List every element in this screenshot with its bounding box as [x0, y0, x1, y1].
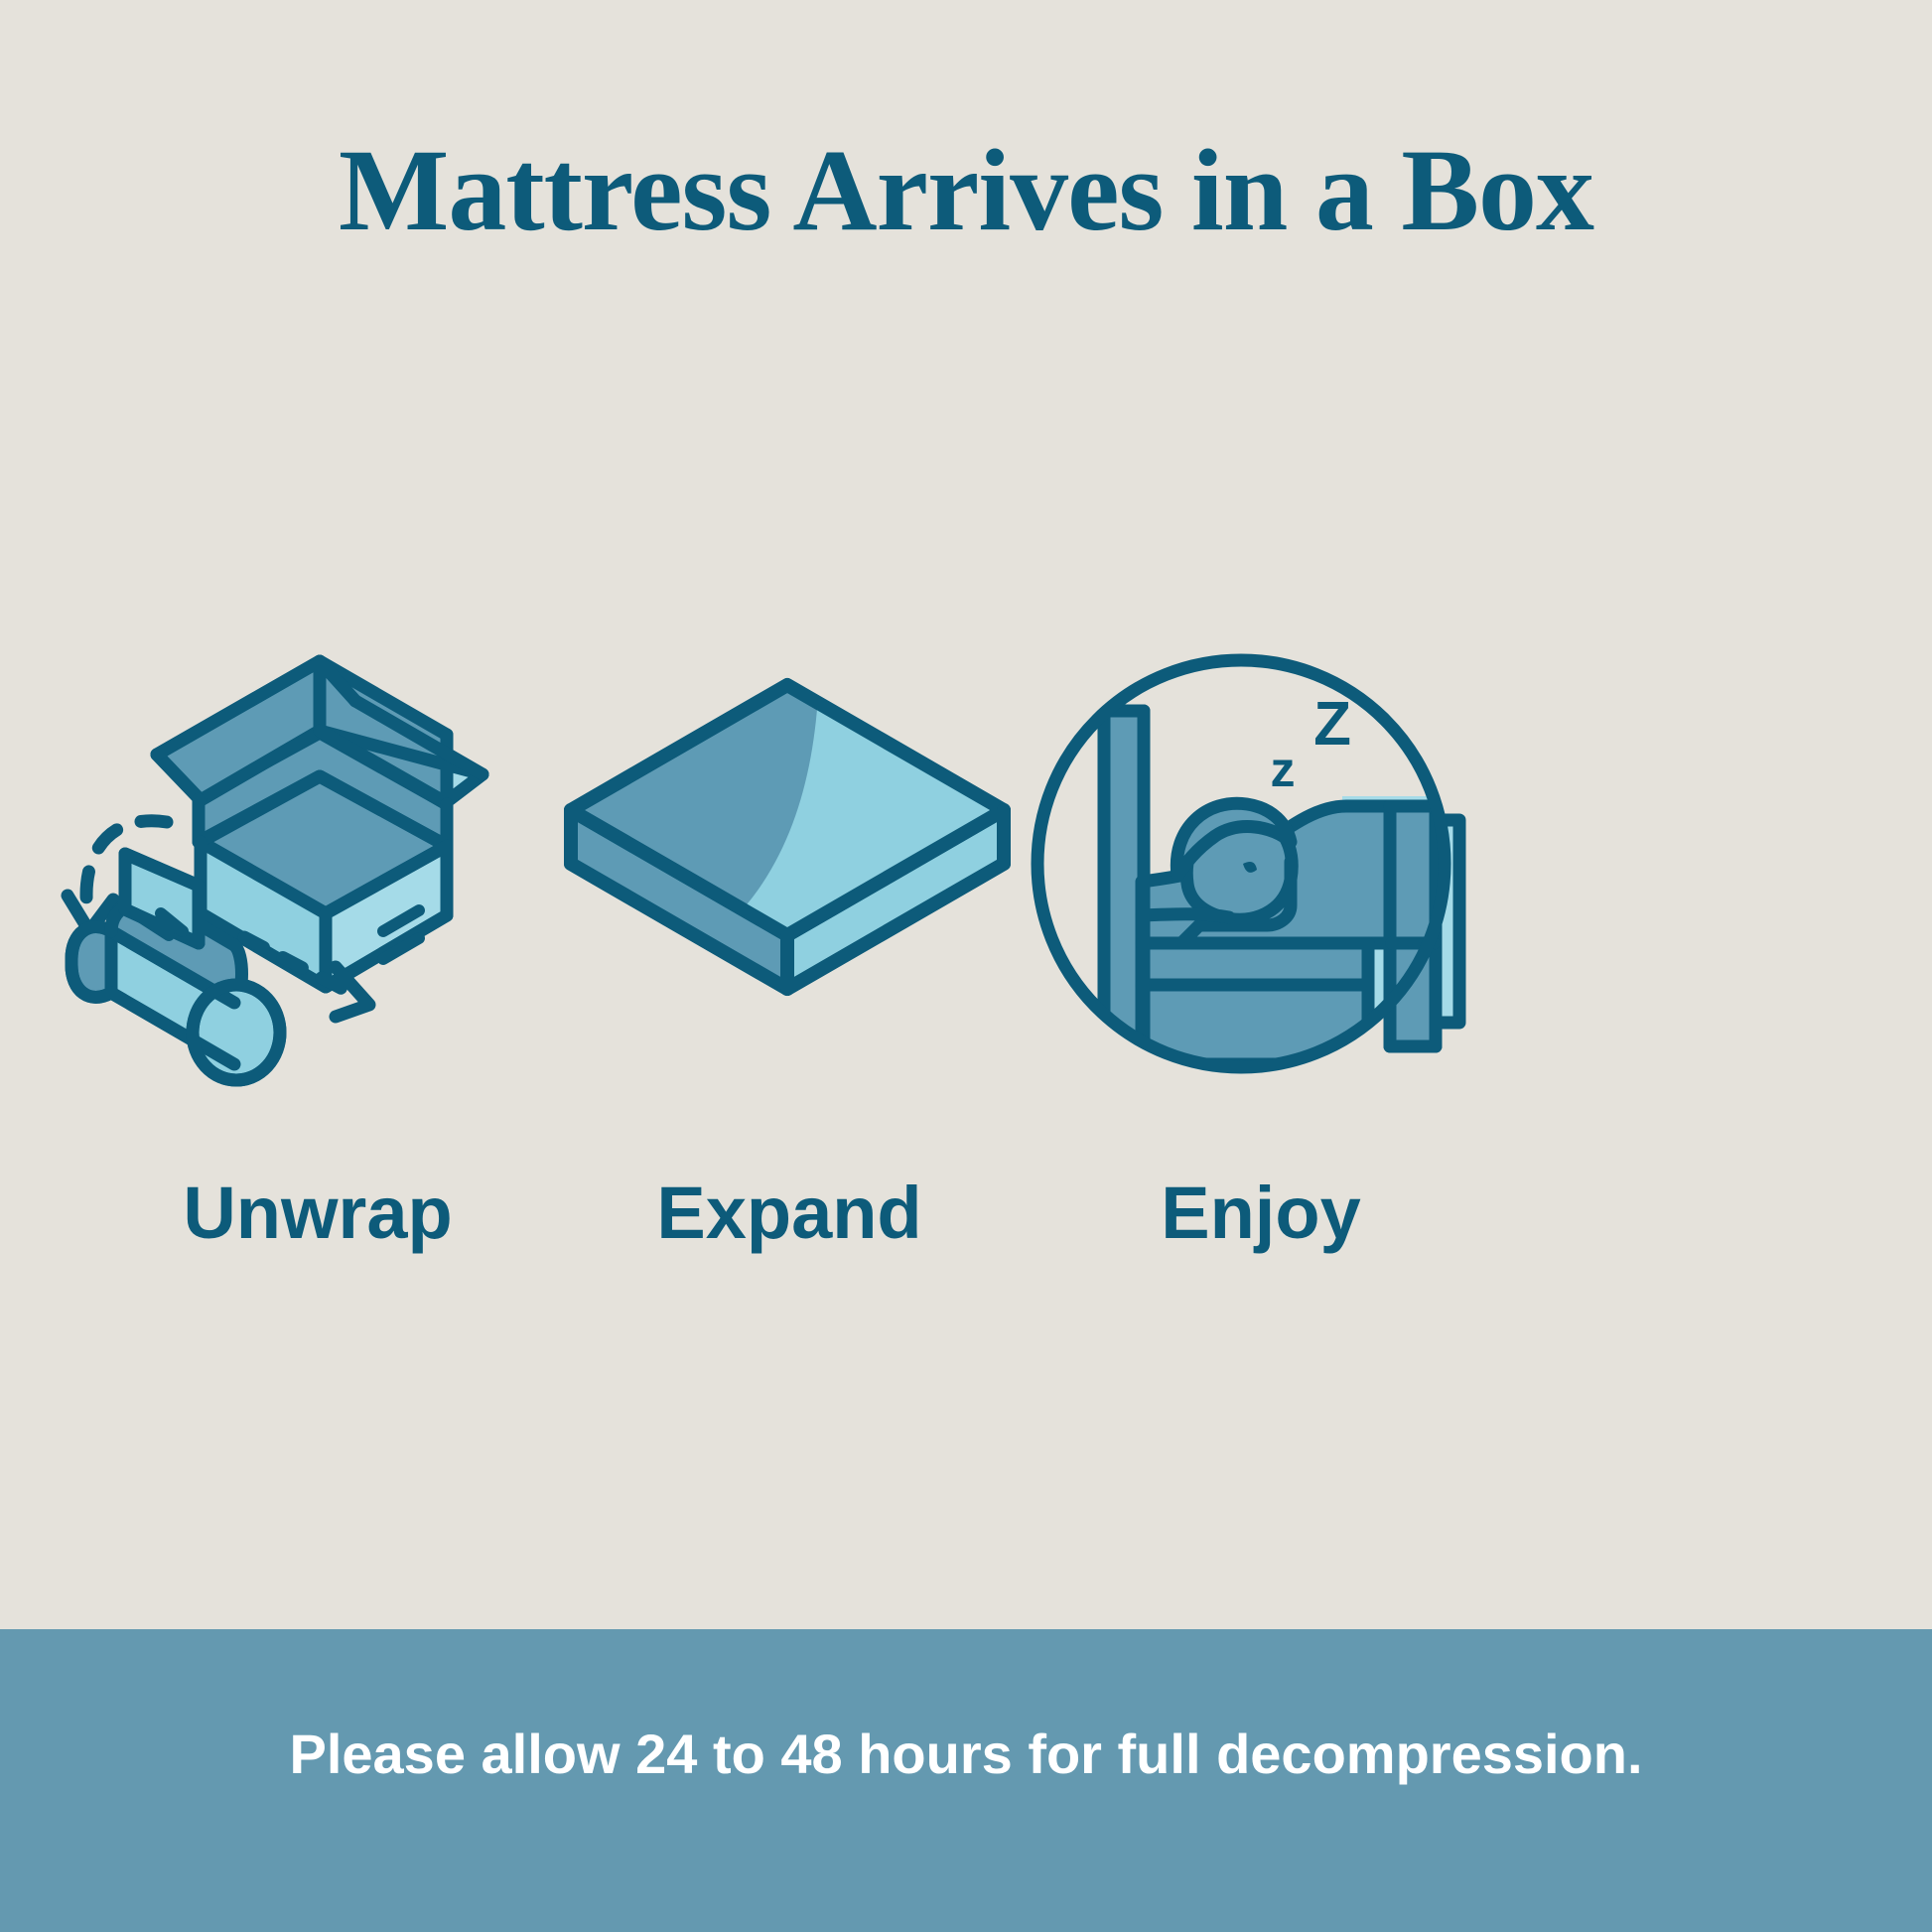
- step-1-icon-unwrap: [50, 616, 586, 1132]
- infographic-canvas: Mattress Arrives in a Box: [0, 0, 1932, 1932]
- steps-icon-row: z Z: [0, 616, 1932, 1132]
- steps-label-row: Unwrap Expand Enjoy: [0, 1176, 1932, 1286]
- step-3-label: Enjoy: [993, 1176, 1529, 1250]
- sleep-mark-z-small: z: [1271, 742, 1296, 797]
- step-1-label: Unwrap: [50, 1176, 586, 1250]
- step-3-icon-enjoy: z Z: [993, 616, 1529, 1132]
- pillow-edge: [1142, 914, 1229, 917]
- decompression-note: Please allow 24 to 48 hours for full dec…: [0, 1726, 1932, 1782]
- sleep-mark-z-large: Z: [1313, 690, 1351, 759]
- bottom-banner: Please allow 24 to 48 hours for full dec…: [0, 1629, 1932, 1932]
- step-2-icon-expand: [521, 616, 1057, 1132]
- page-title: Mattress Arrives in a Box: [0, 129, 1932, 252]
- step-2-label: Expand: [521, 1176, 1057, 1250]
